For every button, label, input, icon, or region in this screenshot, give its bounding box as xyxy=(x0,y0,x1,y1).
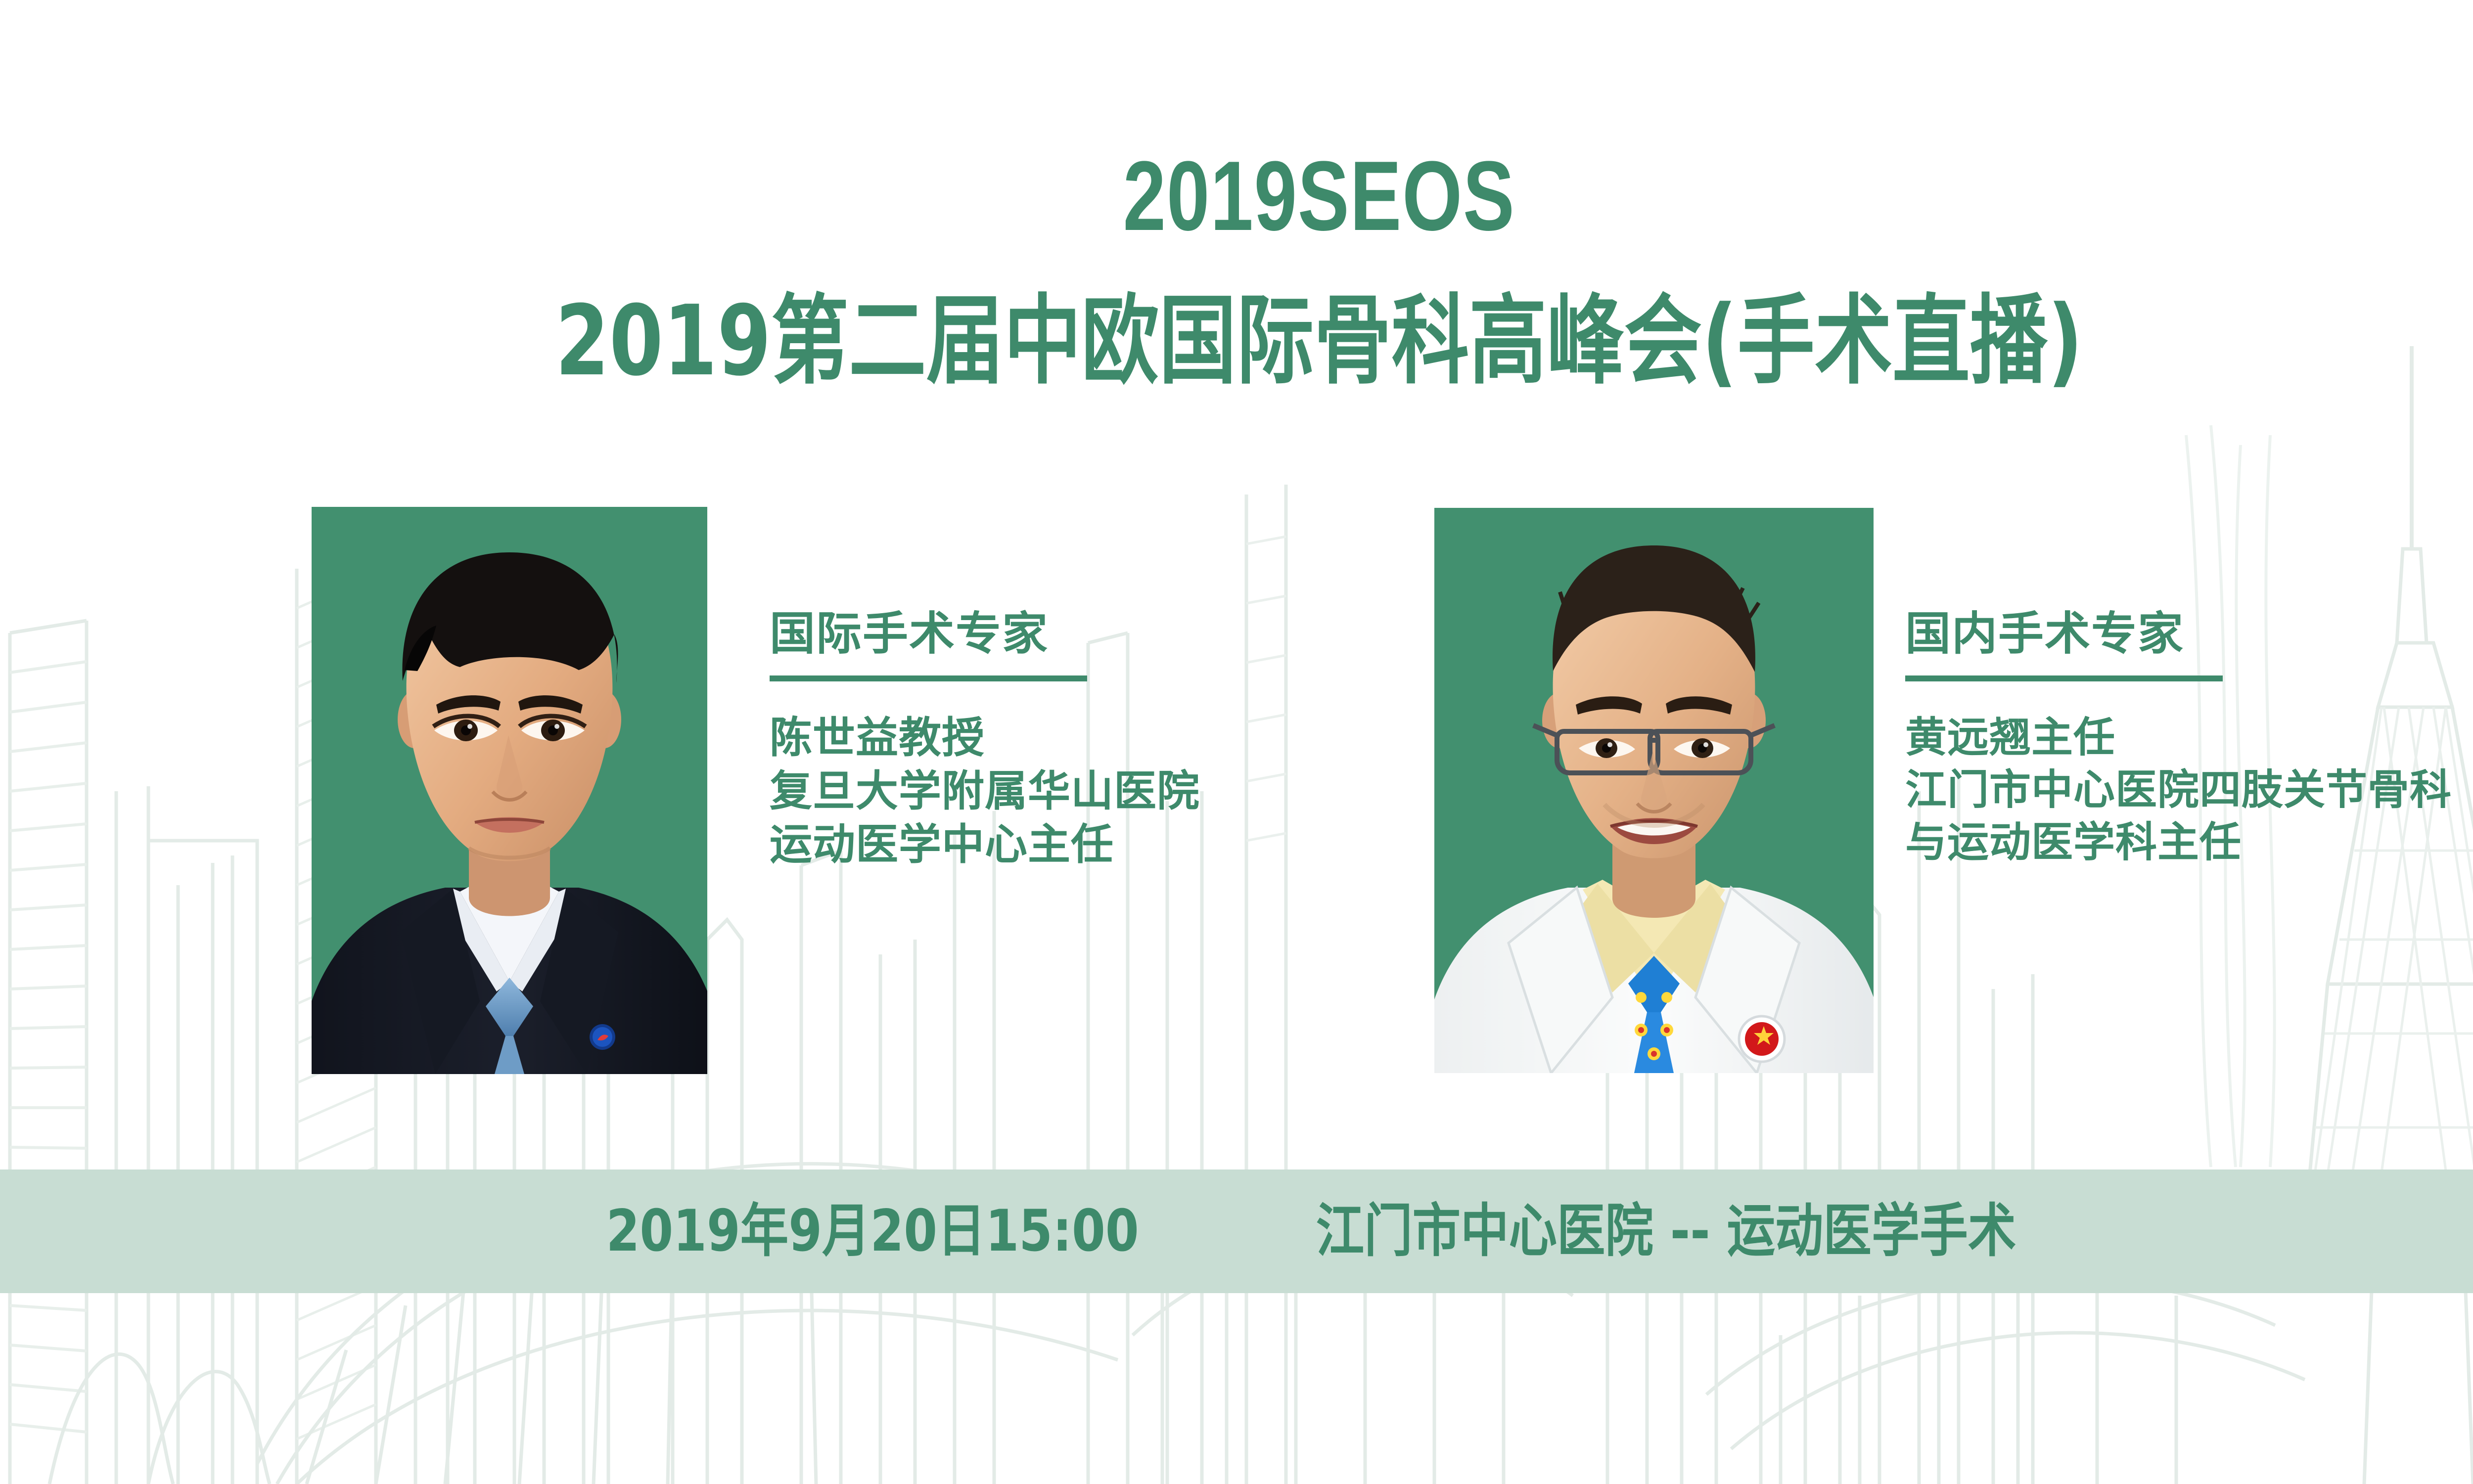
expert-divider-rule xyxy=(1905,675,2223,681)
page-title: 2019SEOS xyxy=(290,144,2348,248)
expert-card-domestic: 国内手术专家 黄远翘主任 江门市中心医院四肢关节骨科 与运动医学科主任 xyxy=(1905,609,2473,868)
event-info-banner-content: 2019年9月20日15:00 江门市中心医院 -- 运动医学手术 xyxy=(0,1169,2473,1293)
expert-name: 陈世益教授 xyxy=(770,711,1388,764)
expert-card-international: 国际手术专家 陈世益教授 复旦大学附属华山医院 运动医学中心主任 xyxy=(770,609,1388,871)
expert-affiliation-line-1: 江门市中心医院四肢关节骨科 xyxy=(1905,764,2473,816)
event-datetime: 2019年9月20日15:00 xyxy=(606,1199,1139,1263)
event-venue: 江门市中心医院 -- 运动医学手术 xyxy=(1316,1199,2015,1263)
portrait-chen-shiyi xyxy=(312,507,707,1074)
event-poster: 2019SEOS 2019第二届中欧国际骨科高峰会(手术直播) xyxy=(0,0,2473,1484)
expert-divider-rule xyxy=(770,675,1087,681)
expert-affiliation-line-2: 运动医学中心主任 xyxy=(770,818,1388,871)
expert-name: 黄远翘主任 xyxy=(1905,711,2473,764)
expert-details: 黄远翘主任 江门市中心医院四肢关节骨科 与运动医学科主任 xyxy=(1905,711,2473,868)
expert-role-label: 国际手术专家 xyxy=(770,609,1388,659)
page-subtitle: 2019第二届中欧国际骨科高峰会(手术直播) xyxy=(264,289,2374,393)
portrait-huang-yuanqiao xyxy=(1434,508,1874,1073)
expert-affiliation-line-1: 复旦大学附属华山医院 xyxy=(770,764,1388,818)
expert-role-label: 国内手术专家 xyxy=(1905,609,2473,659)
event-info-banner: 2019年9月20日15:00 江门市中心医院 -- 运动医学手术 xyxy=(0,1169,2473,1293)
portrait-chen-shiyi-image xyxy=(312,507,707,1074)
expert-affiliation-line-2: 与运动医学科主任 xyxy=(1905,816,2473,868)
expert-details: 陈世益教授 复旦大学附属华山医院 运动医学中心主任 xyxy=(770,711,1388,871)
portrait-huang-yuanqiao-image xyxy=(1434,508,1874,1073)
